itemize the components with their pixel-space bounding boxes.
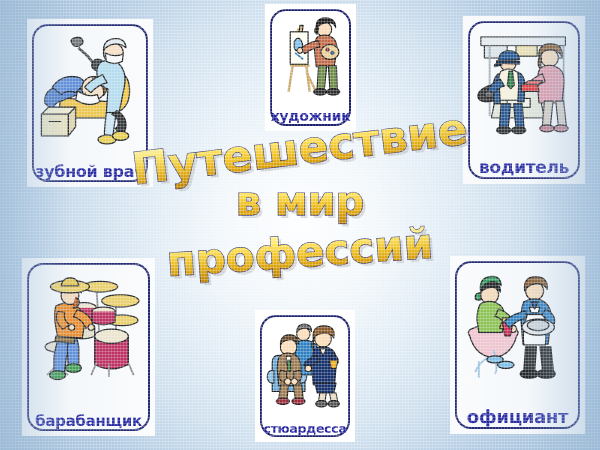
- title-line-2-shadow: в мир: [239, 182, 368, 228]
- artist-illustration: [274, 12, 347, 101]
- dentist-illustration: [36, 27, 144, 153]
- flight-attendant-illustration: [264, 318, 346, 414]
- card-label-waiter: официант: [454, 409, 581, 427]
- profession-card-artist[interactable]: художник: [265, 4, 356, 131]
- title-line-3-shadow: профессий: [168, 222, 438, 289]
- profession-card-dentist[interactable]: зубной врач: [27, 19, 153, 187]
- title-line-3: профессий: [165, 219, 435, 286]
- presentation-slide: зубной врач: [0, 0, 600, 450]
- waiter-illustration: [459, 264, 576, 400]
- card-label-flight-attendant: стюардесса: [259, 423, 351, 436]
- profession-card-flight-attendant[interactable]: стюардесса: [255, 310, 355, 442]
- drummer-illustration: [31, 266, 146, 402]
- card-label-driver: водитель: [467, 160, 581, 177]
- card-label-drummer: барабанщик: [26, 414, 151, 429]
- card-label-artist: художник: [269, 110, 352, 124]
- driver-illustration: [472, 24, 576, 150]
- profession-card-driver[interactable]: водитель: [463, 16, 585, 184]
- card-label-dentist: зубной врач: [31, 164, 149, 180]
- title-line-2: в мир: [236, 179, 365, 225]
- profession-card-drummer[interactable]: барабанщик: [22, 258, 155, 436]
- profession-card-waiter[interactable]: официант: [450, 256, 585, 434]
